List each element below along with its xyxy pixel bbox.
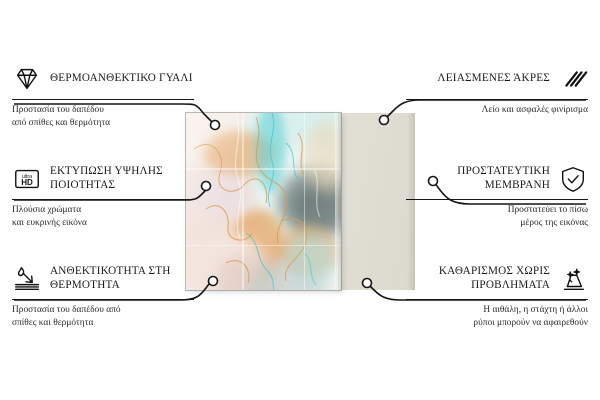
feature-block-right-3: ΚΑΘΑΡΙΣΜΟΣ ΧΩΡΙΣ ΠΡΟΒΛΗΜΑΤΑ Η αιθάλη, η … xyxy=(406,262,588,330)
feature-title: ΑΝΘΕΚΤΙΚΟΤΗΤΑ ΣΤΗ ΘΕΡΜΟΤΗΤΑ xyxy=(50,265,194,292)
feature-desc: Λείο και ασφαλές φινίρισμα xyxy=(406,104,588,117)
divider xyxy=(12,99,194,100)
heat-resistance-icon xyxy=(12,264,42,294)
desc-line-1: Πλούσια χρώματα xyxy=(12,204,194,217)
diamond-icon xyxy=(12,64,42,94)
divider xyxy=(12,299,194,300)
desc-line-1: Η αιθάλη, η στάχτη ή άλλοι xyxy=(406,304,588,317)
feature-title: ΛΕΙΑΣΜΕΝΕΣ ΆΚΡΕΣ xyxy=(437,72,550,86)
feature-head: ΛΕΙΑΣΜΕΝΕΣ ΆΚΡΕΣ xyxy=(406,62,588,96)
feature-desc: Πλούσια χρώματα και ευκρινής εικόνα xyxy=(12,204,194,230)
feature-block-left-3: ΑΝΘΕΚΤΙΚΟΤΗΤΑ ΣΤΗ ΘΕΡΜΟΤΗΤΑ Προστασία το… xyxy=(12,262,194,330)
divider xyxy=(406,199,588,200)
feature-block-left-2: ultra HD ΕΚΤΥΠΩΣΗ ΥΨΗΛΗΣ ΠΟΙΟΤΗΤΑΣ Πλούσ… xyxy=(12,162,194,230)
feature-desc: Η αιθάλη, η στάχτη ή άλλοι ρύποι μπορούν… xyxy=(406,304,588,330)
divider xyxy=(406,299,588,300)
product-glass-panel xyxy=(186,113,341,290)
feature-title: ΚΑΘΑΡΙΣΜΟΣ ΧΩΡΙΣ ΠΡΟΒΛΗΜΑΤΑ xyxy=(406,265,550,292)
desc-line-1: Προστατεύει το πίσω xyxy=(406,204,588,217)
desc-line-2: μέρος της εικόνας xyxy=(406,217,588,230)
feature-block-right-1: ΛΕΙΑΣΜΕΝΕΣ ΆΚΡΕΣ Λείο και ασφαλές φινίρι… xyxy=(406,62,588,117)
ultra-hd-bottom: HD xyxy=(21,178,33,187)
feature-title: ΘΕΡΜΟΑΝΘΕΚΤΙΚΟ ΓΥΑΛΙ xyxy=(50,72,193,86)
glass-edge-highlight xyxy=(335,113,341,290)
feature-block-right-2: ΠΡΟΣΤΑΤΕΥΤΙΚΗ ΜΕΜΒΡΑΝΗ Προστατεύει το πί… xyxy=(406,162,588,230)
feature-head: ΠΡΟΣΤΑΤΕΥΤΙΚΗ ΜΕΜΒΡΑΝΗ xyxy=(406,162,588,196)
feature-title: ΕΚΤΥΠΩΣΗ ΥΨΗΛΗΣ ΠΟΙΟΤΗΤΑΣ xyxy=(50,165,194,192)
polished-edges-icon xyxy=(558,64,588,94)
desc-line-1: Λείο και ασφαλές φινίρισμα xyxy=(406,104,588,117)
feature-head: ΘΕΡΜΟΑΝΘΕΚΤΙΚΟ ΓΥΑΛΙ xyxy=(12,62,194,96)
glass-sheen xyxy=(186,113,341,290)
feature-head: ΚΑΘΑΡΙΣΜΟΣ ΧΩΡΙΣ ΠΡΟΒΛΗΜΑΤΑ xyxy=(406,262,588,296)
desc-line-1: Προστασία του δαπέδου από xyxy=(12,304,194,317)
divider xyxy=(406,99,588,100)
easy-clean-icon xyxy=(558,264,588,294)
desc-line-2: σπίθες και θερμότητα xyxy=(12,317,194,330)
feature-head: ΑΝΘΕΚΤΙΚΟΤΗΤΑ ΣΤΗ ΘΕΡΜΟΤΗΤΑ xyxy=(12,262,194,296)
divider xyxy=(12,199,194,200)
desc-line-1: Προστασία του δαπέδου xyxy=(12,104,194,117)
feature-desc: Προστασία του δαπέδου από σπίθες και θερ… xyxy=(12,104,194,130)
feature-block-left-1: ΘΕΡΜΟΑΝΘΕΚΤΙΚΟ ΓΥΑΛΙ Προστασία του δαπέδ… xyxy=(12,62,194,130)
feature-head: ultra HD ΕΚΤΥΠΩΣΗ ΥΨΗΛΗΣ ΠΟΙΟΤΗΤΑΣ xyxy=(12,162,194,196)
feature-desc: Προστατεύει το πίσω μέρος της εικόνας xyxy=(406,204,588,230)
desc-line-2: και ευκρινής εικόνα xyxy=(12,217,194,230)
desc-line-2: από σπίθες και θερμότητα xyxy=(12,117,194,130)
infographic-canvas: ΘΕΡΜΟΑΝΘΕΚΤΙΚΟ ΓΥΑΛΙ Προστασία του δαπέδ… xyxy=(0,0,600,400)
shield-check-icon xyxy=(558,164,588,194)
ultra-hd-icon: ultra HD xyxy=(12,164,42,194)
desc-line-2: ρύποι μπορούν να αφαιρεθούν xyxy=(406,317,588,330)
feature-desc: Προστασία του δαπέδου από σπίθες και θερ… xyxy=(12,304,194,330)
feature-title: ΠΡΟΣΤΑΤΕΥΤΙΚΗ ΜΕΜΒΡΑΝΗ xyxy=(406,165,550,192)
